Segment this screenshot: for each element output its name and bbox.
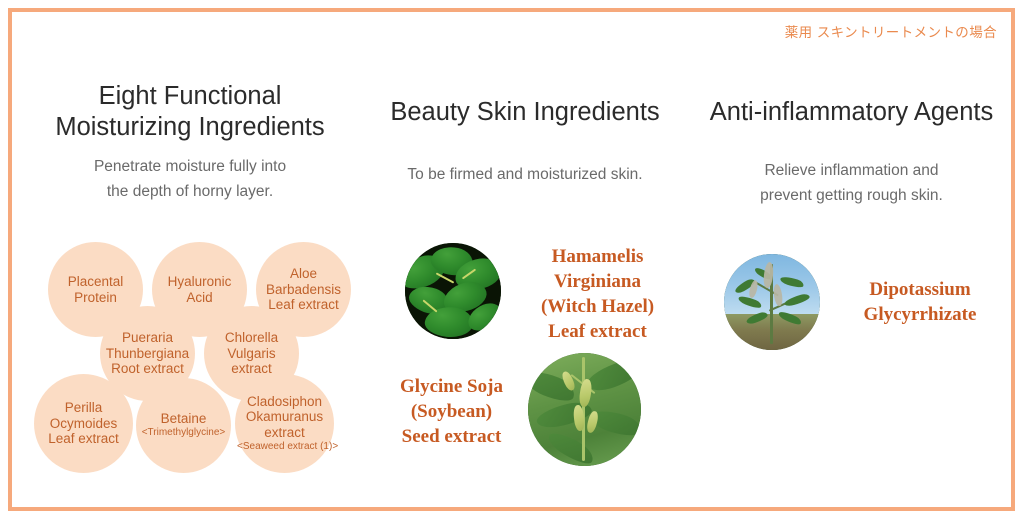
column-moisturizing-ingredients: Eight Functional Moisturizing Ingredient… <box>20 12 360 204</box>
column-3-title: Anti-inflammatory Agents <box>684 12 1019 128</box>
bubble-line: Aloe <box>258 266 349 282</box>
licorice-caption: Dipotassium Glycyrrhizate <box>830 277 1010 327</box>
column-1-subtitle-line-2: the depth of horny layer. <box>20 179 360 204</box>
caption-line: Hamamelis <box>510 244 685 269</box>
caption-line: Virginiana <box>510 269 685 294</box>
column-3-subtitle: Relieve inflammation and prevent getting… <box>684 128 1019 208</box>
bubble-line: Protein <box>50 290 141 306</box>
witch-hazel-caption: Hamamelis Virginiana (Witch Hazel) Leaf … <box>510 244 685 344</box>
bubble-perilla-ocymoides: Perilla Ocymoides Leaf extract <box>34 374 133 473</box>
bubble-line: Root extract <box>102 361 193 377</box>
bubble-line: Vulgaris <box>206 346 297 362</box>
bubble-betaine: Betaine <Trimethylglycine> <box>136 378 231 473</box>
bubble-line: extract <box>237 425 332 441</box>
column-1-subtitle-line-1: Penetrate moisture fully into <box>20 154 360 179</box>
column-3-title-line-1: Anti-inflammatory Agents <box>684 97 1019 128</box>
bubble-line: Cladosiphon <box>237 394 332 410</box>
witch-hazel-photo <box>405 243 501 339</box>
bubble-line: Okamuranus <box>237 409 332 425</box>
bubble-line: Ocymoides <box>36 416 131 432</box>
bubble-cladosiphon-okamuranus: Cladosiphon Okamuranus extract <Seaweed … <box>235 374 334 473</box>
caption-line: Glycyrrhizate <box>830 302 1010 327</box>
soybean-caption: Glycine Soja (Soybean) Seed extract <box>374 374 529 449</box>
bubble-note: <Seaweed extract (1)> <box>237 441 332 454</box>
soybean-photo <box>528 353 641 466</box>
caption-line: (Soybean) <box>374 399 529 424</box>
column-3-subtitle-line-2: prevent getting rough skin. <box>684 183 1019 208</box>
column-1-title-line-2: Moisturizing Ingredients <box>20 112 360 143</box>
licorice-photo <box>724 254 820 350</box>
bubble-line: Pueraria <box>102 330 193 346</box>
column-3-subtitle-line-1: Relieve inflammation and <box>684 158 1019 183</box>
column-beauty-skin-ingredients: Beauty Skin Ingredients To be firmed and… <box>360 12 690 187</box>
bubble-note: <Trimethylglycine> <box>138 427 229 440</box>
bubble-line: Perilla <box>36 400 131 416</box>
bubble-line: Thunbergiana <box>102 346 193 362</box>
column-2-subtitle-line-1: To be firmed and moisturized skin. <box>360 162 690 187</box>
bubble-line: Hyaluronic <box>154 274 245 290</box>
bubble-line: Betaine <box>138 411 229 427</box>
bubble-line: Chlorella <box>206 330 297 346</box>
column-1-title-line-1: Eight Functional <box>20 81 360 112</box>
column-2-subtitle: To be firmed and moisturized skin. <box>360 128 690 187</box>
caption-line: Glycine Soja <box>374 374 529 399</box>
slide-canvas: 薬用 スキントリートメントの場合 Eight Functional Moistu… <box>0 0 1023 519</box>
bubble-line: Leaf extract <box>36 431 131 447</box>
column-2-title: Beauty Skin Ingredients <box>360 12 690 128</box>
bubble-line: Placental <box>50 274 141 290</box>
column-anti-inflammatory-agents: Anti-inflammatory Agents Relieve inflamm… <box>684 12 1019 208</box>
caption-line: Seed extract <box>374 424 529 449</box>
bubble-line: Acid <box>154 290 245 306</box>
column-2-title-line-1: Beauty Skin Ingredients <box>360 97 690 128</box>
bubble-line: Barbadensis <box>258 282 349 298</box>
ingredient-bubble-cluster: Placental Protein Hyaluronic Acid Aloe B… <box>20 234 360 484</box>
caption-line: (Witch Hazel) <box>510 294 685 319</box>
caption-line: Dipotassium <box>830 277 1010 302</box>
column-1-subtitle: Penetrate moisture fully into the depth … <box>20 143 360 204</box>
slide-frame: 薬用 スキントリートメントの場合 Eight Functional Moistu… <box>8 8 1015 511</box>
column-1-title: Eight Functional Moisturizing Ingredient… <box>20 12 360 143</box>
caption-line: Leaf extract <box>510 319 685 344</box>
